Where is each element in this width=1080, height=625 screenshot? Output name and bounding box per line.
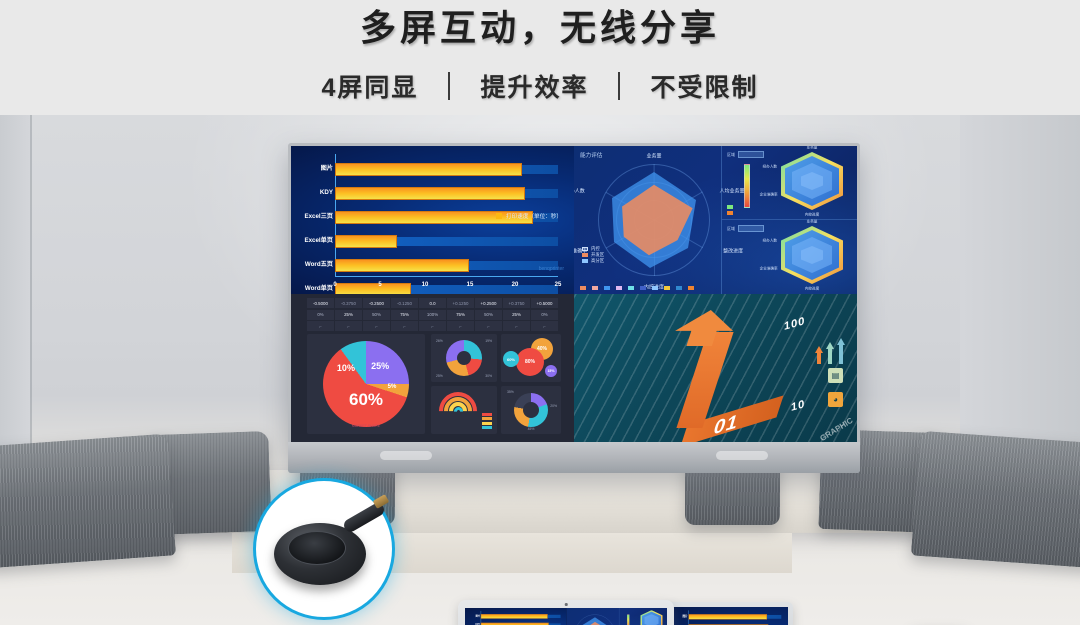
selector-label: 区域 [727,226,735,232]
bar-label: 图片 [291,163,333,175]
hex-axis-label: 业务量 [807,219,818,224]
gauge-label: 35% [507,390,514,394]
mini-arrow-group [815,338,845,364]
hex-axis-label: 内控进度 [805,212,819,217]
gauge-label: 45% [528,427,535,431]
gauge-ring-chart [514,393,548,427]
radar-title: 能力评估 [580,151,602,159]
laptop-screen: 图片 KDY Excel三页 Excel单页 Word五页 Word单页 打印速… [465,608,667,625]
quadrant-radar-dashboard: 能力评估 [574,146,857,294]
bar-label: Excel三页 [291,211,333,223]
hex-axis-label: 经办人数 [763,239,777,244]
webcam-icon [565,603,568,606]
x-tick: 5 [378,282,381,288]
table-cell: 0% [307,310,334,320]
bubble: 80% [516,348,544,376]
bar-label: KDY [291,187,333,199]
legend-swatch-icon [496,213,502,219]
table-cell: +0.1250 [447,298,474,308]
selector-label: 区域 [727,152,735,158]
color-scale-bar [744,164,750,208]
x-tick: 10 [422,282,429,288]
table-cell: 100% [419,310,446,320]
legend-swatch-icon [582,253,588,257]
share-pie-panel: 60% 25% 10% 5% MARKET SHARE [307,334,425,434]
bar-label: Word五页 [291,259,333,271]
donut-label: 25% [436,374,443,378]
table-cell: 50% [475,310,502,320]
up-arrow-icon [826,342,834,364]
tv-bottom-bezel [288,442,860,473]
x-tick: 15 [467,282,474,288]
table-cell: +0.2500 [475,298,502,308]
region-select[interactable] [738,225,764,232]
legend-label: 打印速度（单位：秒） [506,212,562,220]
bar-fill [335,187,525,200]
table-cell: +0.5000 [531,298,558,308]
divider-icon [618,72,620,100]
radar-side-panel: 区域 业务量 经办人数 [721,146,857,294]
hex-radar-bottom: 区域 业务量 经办人数 企业准确率 [722,220,857,294]
table-row: ⌐ ⌐ ⌐ ⌐ ⌐ ⌐ ⌐ ⌐ ⌐ [307,321,558,331]
bar-fill [335,235,397,248]
wall-panel-left [0,115,30,455]
legend-swatch-icon [582,259,588,263]
bubble-panel: 40% 80% 60% 15% [501,334,561,382]
speaker-grille [380,451,432,460]
table-cell: 75% [447,310,474,320]
second-monitor[interactable]: 图片 KDY Excel三页 Excel单页 Word五页 Word单页 0 5… [665,602,793,625]
quadrant-dark-dashboard: -0.5000 -0.3750 -0.2500 -0.1250 0.0 +0.1… [291,294,574,442]
quadrant-growth-arrow: 01 100 10 [574,294,857,442]
print-speed-bar-chart: 图片 KDY Excel三页 [291,146,574,294]
table-row: 0% 25% 50% 75% 100% 75% 50% 25% 0% [307,310,558,320]
watermark: benqprinter [539,266,564,272]
segment-donut-panel: 26% 19% 25% 30% [431,334,497,382]
conference-room-scene: 图片 KDY Excel三页 [0,115,1080,625]
hex-radar-top: 区域 业务量 经办人数 [722,146,857,220]
donut-label: 26% [436,339,443,343]
pie-label: 25% [371,361,389,371]
radar-axis-label: 业务量 [646,153,661,160]
hex-axis-label: 内控进度 [805,286,819,291]
tv-display[interactable]: 图片 KDY Excel三页 [288,143,860,473]
donut-label: 30% [485,374,492,378]
laptop-lid: 图片 KDY Excel三页 Excel单页 Word五页 Word单页 打印速… [458,600,674,625]
chair [0,434,176,569]
donut-label: 19% [485,339,492,343]
chair [911,431,1080,569]
bubble: 60% [503,351,519,367]
mirrored-dashboard: 图片 KDY Excel三页 Excel单页 Word五页 Word单页 打印速… [465,608,667,625]
hex-axis-label: 业务量 [807,146,818,150]
bar-fill [335,259,469,272]
region-select[interactable] [738,151,764,158]
rainbow-arc-panel [431,386,497,434]
hex-plot: 业务量 经办人数 企业准确率 内控进度 [781,152,843,210]
page-title: 多屏互动，无线分享 [0,0,1080,46]
bar-label: Excel单页 [291,235,333,247]
radar-chip-legend [580,286,730,290]
product-banner: 多屏互动，无线分享 4屏同显 提升效率 不受限制 [0,0,1080,625]
radar-axis-label: 经办人数 [574,188,585,195]
quadrant-bar-chart: 图片 KDY Excel三页 [291,146,574,294]
radar-plot: 业务量 人均业务量 整改进度 内控进度 企业准确率 经办人数 [594,160,714,280]
table-cell: 50% [363,310,390,320]
hex-axis-label: 经办人数 [763,165,777,170]
x-tick: 20 [512,282,519,288]
segment-donut-chart [446,340,482,376]
radar-legend: 内控 开发区 高分区 [582,246,604,264]
banner-header: 多屏互动，无线分享 4屏同显 提升效率 不受限制 [0,0,1080,115]
bar-label: Word单页 [291,283,333,294]
chart-icon: ▤ [828,368,843,383]
table-cell: 25% [335,310,362,320]
wall-panel-right [960,115,1080,460]
up-arrow-icon [815,346,823,364]
hex-plot: 业务量 经办人数 企业准确率 内控进度 [781,226,843,284]
bar-fill [335,283,411,294]
chart-legend: 打印速度（单位：秒） [496,212,562,220]
x-tick: 25 [555,282,562,288]
feature-item-0: 4屏同显 [322,68,419,104]
table-cell: 0.0 [419,298,446,308]
clock-icon: ◕ [828,392,843,407]
table-cell: -0.5000 [307,298,334,308]
table-cell: -0.2500 [363,298,390,308]
legend-label: 高分区 [591,258,604,264]
table-cell: +0.3750 [503,298,530,308]
hex-axis-label: 企业准确率 [760,192,778,197]
x-tick: 0 [333,282,336,288]
wall-seam [30,115,32,455]
table-row: -0.5000 -0.3750 -0.2500 -0.1250 0.0 +0.1… [307,298,558,308]
divider-icon [448,72,450,100]
table-cell: 0% [531,310,558,320]
dongle-top-surface[interactable] [288,531,346,565]
bar-fill [335,163,522,176]
laptop[interactable]: 图片 KDY Excel三页 Excel单页 Word五页 Word单页 打印速… [450,600,682,625]
table-cell: 25% [503,310,530,320]
x-axis [335,276,558,277]
table-cell: -0.3750 [335,298,362,308]
feature-item-1: 提升效率 [480,68,588,104]
table-cell: -0.1250 [391,298,418,308]
wireless-dongle-highlight [253,478,395,620]
gauge-label: 20% [550,404,557,408]
speaker-grille [716,451,768,460]
up-arrow-icon [837,338,845,364]
pie-label: 60% [349,390,383,410]
feature-item-2: 不受限制 [650,68,758,104]
pie-caption: MARKET SHARE [352,424,380,428]
legend-swatch-icon [582,247,588,251]
gauge-panel: 35% 20% 45% [501,386,561,434]
capability-radar-chart: 能力评估 [574,146,857,294]
feature-list: 4屏同显 提升效率 不受限制 [0,68,1080,104]
second-monitor-screen: 图片 KDY Excel三页 Excel单页 Word五页 Word单页 0 5… [670,607,788,625]
table-cell: 75% [391,310,418,320]
data-table: -0.5000 -0.3750 -0.2500 -0.1250 0.0 +0.1… [307,298,558,333]
tv-screen: 图片 KDY Excel三页 [291,146,857,442]
pie-label: 5% [388,384,397,390]
bubble: 15% [545,365,557,377]
hex-axis-label: 企业准确率 [760,266,778,271]
mirrored-bar-chart: 图片 KDY Excel三页 Excel单页 Word五页 Word单页 0 5… [670,607,788,625]
pie-label: 10% [337,363,355,373]
